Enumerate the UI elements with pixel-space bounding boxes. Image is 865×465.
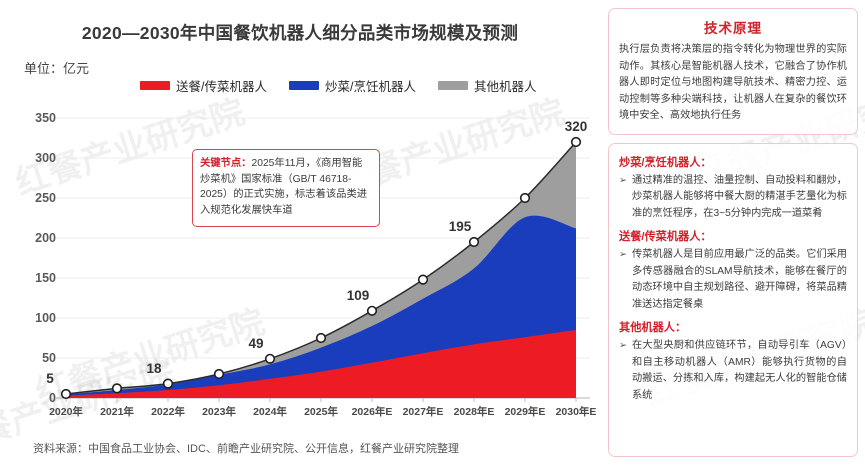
x-axis-tick-label: 2024年 (253, 404, 287, 419)
section-cooking: 炒菜/烹饪机器人： ➢ 通过精准的温控、油量控制、自动投料和翻炒，炒菜机器人能够… (619, 154, 847, 223)
category-details-card: 炒菜/烹饪机器人： ➢ 通过精准的温控、油量控制、自动投料和翻炒，炒菜机器人能够… (608, 143, 858, 457)
y-axis-tick-label: 50 (14, 351, 56, 365)
y-axis-tick-label: 350 (14, 111, 56, 125)
section-other-bullet: ➢ 在大型央厨和供应链环节，自动导引车（AGV）和自主移动机器人（AMR）能够执… (619, 338, 847, 404)
tech-principle-body: 执行层负责将决策层的指令转化为物理世界的实际动作。其核心是智能机器人技术，它融合… (619, 42, 847, 125)
data-point-label: 320 (565, 119, 588, 134)
x-axis-tick-label: 2030年E (556, 404, 597, 419)
data-point-marker[interactable] (470, 238, 479, 247)
section-other-heading: 其他机器人： (619, 319, 847, 335)
x-axis-tick-label: 2026年E (352, 404, 393, 419)
data-point-label: 109 (347, 288, 370, 303)
x-axis-tick-label: 2028年E (454, 404, 495, 419)
data-point-marker[interactable] (317, 334, 326, 343)
y-axis-tick-label: 0 (14, 391, 56, 405)
data-point-marker[interactable] (521, 194, 530, 203)
section-cooking-heading: 炒菜/烹饪机器人： (619, 154, 847, 170)
data-point-label: 18 (146, 361, 161, 376)
x-axis-tick-label: 2027年E (403, 404, 444, 419)
section-cooking-bullet: ➢ 通过精准的温控、油量控制、自动投料和翻炒，炒菜机器人能够将中餐大厨的精湛手艺… (619, 173, 847, 223)
section-delivery-text: 传菜机器人是目前应用最广泛的品类。它们采用多传感器融合的SLAM导航技术，能够在… (632, 247, 847, 313)
info-panel: 技术原理 执行层负责将决策层的指令转化为物理世界的实际动作。其核心是智能机器人技… (608, 8, 858, 457)
y-axis-tick-label: 150 (14, 271, 56, 285)
data-point-marker[interactable] (419, 275, 428, 284)
section-cooking-text: 通过精准的温控、油量控制、自动投料和翻炒，炒菜机器人能够将中餐大厨的精湛手艺量化… (632, 173, 847, 223)
section-delivery-bullet: ➢ 传菜机器人是目前应用最广泛的品类。它们采用多传感器融合的SLAM导航技术，能… (619, 247, 847, 313)
data-point-marker[interactable] (62, 390, 71, 399)
tech-principle-title: 技术原理 (619, 17, 847, 37)
bullet-arrow-icon: ➢ (619, 247, 627, 313)
x-axis-tick-label: 2025年 (304, 404, 338, 419)
y-axis-tick-label: 250 (14, 191, 56, 205)
chart-panel: 2020—2030年中国餐饮机器人细分品类市场规模及预测 单位：亿元 送餐/传菜… (0, 0, 600, 465)
x-axis-tick-label: 2022年 (151, 404, 185, 419)
data-point-marker[interactable] (266, 355, 275, 364)
y-axis-tick-label: 300 (14, 151, 56, 165)
data-point-label: 5 (46, 371, 54, 386)
bullet-arrow-icon: ➢ (619, 338, 627, 404)
data-point-marker[interactable] (164, 379, 173, 388)
section-other-text: 在大型央厨和供应链环节，自动导引车（AGV）和自主移动机器人（AMR）能够执行货… (632, 338, 847, 404)
x-axis-tick-label: 2029年E (505, 404, 546, 419)
data-point-marker[interactable] (368, 307, 377, 316)
data-point-marker[interactable] (215, 370, 224, 379)
key-milestone-callout: 关键节点：2025年11月，《商用智能炒菜机》国家标准（GB/T 46718-2… (192, 149, 380, 227)
tech-principle-card: 技术原理 执行层负责将决策层的指令转化为物理世界的实际动作。其核心是智能机器人技… (608, 8, 858, 135)
x-axis-tick-label: 2023年 (202, 404, 236, 419)
bullet-arrow-icon: ➢ (619, 173, 627, 223)
x-axis-tick-label: 2021年 (100, 404, 134, 419)
y-axis-tick-label: 100 (14, 311, 56, 325)
section-delivery-heading: 送餐/传菜机器人： (619, 228, 847, 244)
data-point-label: 195 (449, 219, 472, 234)
source-note: 资料来源：中国食品工业协会、IDC、前瞻产业研究院、公开信息，红餐产业研究院整理 (33, 440, 459, 456)
data-point-label: 49 (248, 336, 263, 351)
x-axis-tick-label: 2020年 (49, 404, 83, 419)
section-delivery: 送餐/传菜机器人： ➢ 传菜机器人是目前应用最广泛的品类。它们采用多传感器融合的… (619, 228, 847, 313)
screenshot-root: 红餐产业研究院红餐产业研究院红餐产业研究院红餐产业研究院红餐产业研究院红餐产业研… (0, 0, 865, 465)
data-point-marker[interactable] (572, 138, 581, 147)
data-point-marker[interactable] (113, 384, 122, 393)
section-other: 其他机器人： ➢ 在大型央厨和供应链环节，自动导引车（AGV）和自主移动机器人（… (619, 319, 847, 404)
y-axis-tick-label: 200 (14, 231, 56, 245)
callout-key-label: 关键节点： (200, 158, 251, 169)
